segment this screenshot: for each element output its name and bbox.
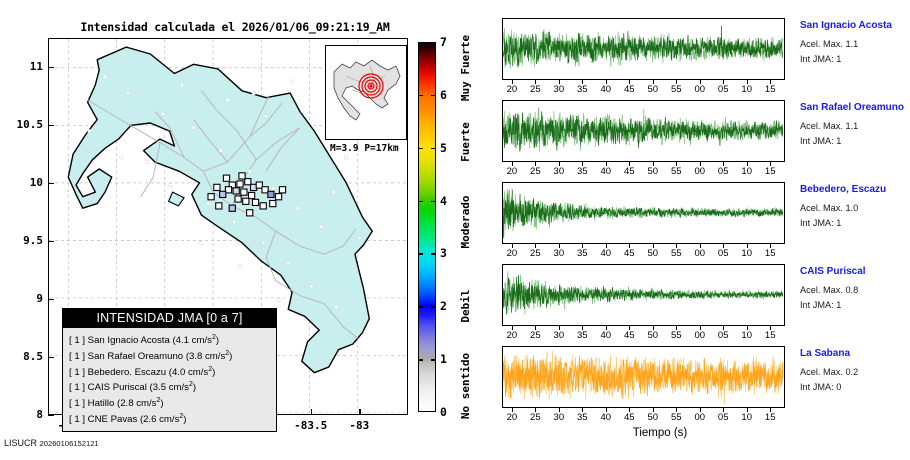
waveform-trace [503, 265, 783, 324]
waveform-x-tick-label: 50 [647, 330, 658, 341]
map-x-tick [311, 409, 312, 415]
waveform-x-tick-label: 40 [601, 248, 612, 259]
waveform-x-tick-label: 30 [554, 166, 565, 177]
waveform-x-tick-label: 05 [718, 166, 729, 177]
legend-entry-paren: ) [216, 335, 219, 346]
colorbar-tick [418, 148, 423, 149]
legend-entry: [ 1 ] CNE Pavas (2.6 cm/s2) [69, 411, 276, 427]
waveform-x-tick-label: 55 [671, 84, 682, 95]
waveform-panel[interactable] [502, 18, 785, 80]
waveform-x-tick-label: 50 [647, 248, 658, 259]
map-y-tick [48, 241, 54, 242]
colorbar-category-label: Moderado [459, 195, 472, 248]
page-title: Intensidad calculada el 2026/01/06_09:21… [60, 20, 410, 34]
waveform-x-tick-label: 00 [694, 84, 705, 95]
colorbar-tick [431, 359, 436, 360]
station-marker [276, 194, 282, 200]
waveform-x-tick-label: 20 [507, 248, 518, 259]
colorbar-tick [431, 95, 436, 96]
magnitude-depth-label: M=3.9 P=17km [330, 143, 399, 154]
colorbar-tick-label: 7 [440, 35, 447, 49]
waveform-x-tick-label: 30 [554, 330, 565, 341]
waveform-panel[interactable] [502, 346, 785, 408]
waveform-x-tick-label: 30 [554, 248, 565, 259]
waveform-x-tick-label: 55 [671, 412, 682, 423]
colorbar-tick [431, 201, 436, 202]
station-marker [247, 210, 253, 216]
legend-entry-accel: (3.5 cm/s [150, 383, 189, 394]
station-marker [220, 191, 226, 197]
station-name-label[interactable]: San Rafael Oreamuno [800, 102, 904, 113]
waveform-x-tick-label: 40 [601, 330, 612, 341]
colorbar-category-label: Debil [459, 290, 472, 323]
station-name-label[interactable]: Bebedero, Escazu [800, 184, 886, 195]
station-jma-label: Int JMA: 1 [800, 54, 841, 64]
waveform-trace [503, 347, 783, 406]
waveform-x-tick-label: 30 [554, 412, 565, 423]
waveform-x-tick-label: 15 [765, 166, 776, 177]
station-accel-label: Acel. Max. 0.2 [800, 367, 858, 377]
station-jma-label: Int JMA: 1 [800, 136, 841, 146]
waveform-panel[interactable] [502, 264, 785, 326]
map-x-tick-label: -83.5 [283, 419, 339, 432]
waveform-x-tick-label: 45 [624, 84, 635, 95]
waveform-x-tick-label: 00 [694, 248, 705, 259]
waveform-x-tick-label: 05 [718, 330, 729, 341]
waveform-x-tick-label: 20 [507, 330, 518, 341]
map-y-tick-label: 11 [3, 60, 43, 73]
legend-entry-level: [ 1 ] [69, 383, 85, 394]
legend-entry-station: CNE Pavas [88, 414, 138, 425]
legend-entry: [ 1 ] San Rafael Oreamuno (3.8 cm/s2) [69, 348, 276, 364]
colorbar-tick-label: 6 [440, 88, 447, 102]
waveform-x-tick-label: 45 [624, 166, 635, 177]
waveform-x-tick-label: 35 [577, 412, 588, 423]
waveform-panel[interactable] [502, 100, 785, 162]
waveform-x-tick-label: 25 [530, 248, 541, 259]
colorbar-tick [431, 148, 436, 149]
colorbar-category-label: No sentido [459, 352, 472, 418]
legend-entry-station: San Rafael Oreamuno [88, 351, 183, 362]
map-y-tick-label: 9 [3, 292, 43, 305]
legend-entry-accel: (2.6 cm/s [140, 414, 179, 425]
legend-entry-paren: ) [183, 414, 186, 425]
map-y-tick [48, 183, 54, 184]
epicenter-dot [369, 84, 372, 87]
station-accel-label: Acel. Max. 1.1 [800, 121, 858, 131]
intensity-colorbar [418, 42, 436, 412]
waveform-x-tick-label: 25 [530, 412, 541, 423]
map-y-tick [48, 299, 54, 300]
colorbar-tick-label: 3 [440, 246, 447, 260]
colorbar-tick [418, 95, 423, 96]
legend-entry-station: Hatillo [88, 398, 115, 409]
map-y-tick [48, 67, 54, 68]
waveform-x-tick-label: 10 [741, 412, 752, 423]
waveform-x-tick-label: 55 [671, 166, 682, 177]
colorbar-tick-label: 4 [440, 194, 447, 208]
colorbar-tick-label: 5 [440, 141, 447, 155]
map-y-tick [48, 125, 54, 126]
colorbar-tick-label: 0 [440, 405, 447, 419]
waveform-x-tick-label: 35 [577, 248, 588, 259]
station-marker [239, 173, 245, 179]
footer-credit: LISUCR 20260106152121 [4, 438, 99, 448]
legend-entry-accel: (2.8 cm/s [117, 398, 156, 409]
colorbar-tick [418, 306, 423, 307]
station-marker [243, 198, 249, 204]
jma-intensity-legend: INTENSIDAD JMA [0 a 7] [ 1 ] San Ignacio… [62, 308, 277, 432]
station-marker [235, 196, 241, 202]
legend-entry-list: [ 1 ] San Ignacio Acosta (4.1 cm/s2)[ 1 … [63, 328, 276, 431]
legend-entry-level: [ 1 ] [69, 351, 85, 362]
waveform-x-tick-label: 25 [530, 166, 541, 177]
waveform-x-tick-label: 40 [601, 166, 612, 177]
waveform-x-tick-label: 50 [647, 412, 658, 423]
waveform-x-tick-label: 20 [507, 84, 518, 95]
waveform-x-tick-label: 45 [624, 412, 635, 423]
legend-entry-level: [ 1 ] [69, 335, 85, 346]
footer-timestamp: 20260106152121 [40, 439, 99, 448]
map-y-tick [48, 357, 54, 358]
map-y-tick-label: 8 [3, 408, 43, 421]
waveform-x-tick-label: 40 [601, 84, 612, 95]
legend-entry-level: [ 1 ] [69, 414, 85, 425]
epicenter-inset-map[interactable] [325, 45, 407, 140]
legend-entry-station: CAIS Puriscal [88, 383, 147, 394]
waveform-x-tick-label: 10 [741, 248, 752, 259]
station-marker [214, 184, 220, 190]
waveform-x-tick-label: 55 [671, 330, 682, 341]
waveform-x-tick-label: 40 [601, 412, 612, 423]
waveform-x-tick-label: 15 [765, 84, 776, 95]
station-marker [270, 201, 276, 207]
map-x-tick-label: -83 [331, 419, 387, 432]
waveform-x-tick-label: 00 [694, 330, 705, 341]
colorbar-tick [431, 253, 436, 254]
station-jma-label: Int JMA: 1 [800, 300, 841, 310]
station-marker [216, 203, 222, 209]
waveform-x-tick-label: 30 [554, 84, 565, 95]
legend-entry-paren: ) [160, 398, 163, 409]
waveform-x-tick-label: 20 [507, 166, 518, 177]
legend-entry: [ 1 ] San Ignacio Acosta (4.1 cm/s2) [69, 332, 276, 348]
waveform-x-tick-label: 05 [718, 84, 729, 95]
station-marker [241, 189, 247, 195]
legend-entry: [ 1 ] Bebedero. Escazu (4.0 cm/s2) [69, 364, 276, 380]
colorbar-tick-label: 1 [440, 352, 447, 366]
colorbar-tick [431, 306, 436, 307]
station-accel-label: Acel. Max. 1.0 [800, 203, 858, 213]
waveform-x-tick-label: 15 [765, 412, 776, 423]
station-marker [252, 199, 258, 205]
colorbar-category-label: Fuerte [459, 123, 472, 163]
inset-canvas [326, 46, 406, 139]
station-marker [229, 205, 235, 211]
station-name-label[interactable]: CAIS Puriscal [800, 266, 866, 277]
waveform-x-tick-label: 50 [647, 166, 658, 177]
station-marker [233, 188, 239, 194]
station-marker [260, 203, 266, 209]
waveform-x-tick-label: 50 [647, 84, 658, 95]
waveform-x-tick-label: 45 [624, 248, 635, 259]
map-y-tick-label: 10.5 [3, 118, 43, 131]
legend-entry-paren: ) [229, 351, 232, 362]
waveform-x-tick-label: 35 [577, 166, 588, 177]
waveform-x-tick-label: 35 [577, 84, 588, 95]
waveform-trace [503, 19, 783, 78]
waveform-x-tick-label: 45 [624, 330, 635, 341]
map-y-tick-label: 8.5 [3, 350, 43, 363]
station-accel-label: Acel. Max. 0.8 [800, 285, 858, 295]
station-accel-label: Acel. Max. 1.1 [800, 39, 858, 49]
station-jma-label: Int JMA: 1 [800, 218, 841, 228]
waveform-trace [503, 183, 783, 242]
waveform-x-tick-label: 20 [507, 412, 518, 423]
station-name-label[interactable]: San Ignacio Acosta [800, 20, 892, 31]
waveform-x-tick-label: 15 [765, 248, 776, 259]
waveform-x-tick-label: 25 [530, 84, 541, 95]
waveform-x-tick-label: 10 [741, 330, 752, 341]
colorbar-tick [418, 359, 423, 360]
legend-title: INTENSIDAD JMA [0 a 7] [63, 309, 276, 328]
station-marker [268, 191, 274, 197]
map-y-tick-label: 10 [3, 176, 43, 189]
station-name-label[interactable]: La Sabana [800, 348, 850, 359]
map-y-tick [48, 415, 54, 416]
waveform-panel[interactable] [502, 182, 785, 244]
legend-entry-accel: (3.8 cm/s [186, 351, 225, 362]
waveform-x-tick-label: 05 [718, 412, 729, 423]
waveform-x-tick-label: 00 [694, 166, 705, 177]
waveform-xaxis-label: Tiempo (s) [600, 427, 720, 439]
legend-entry-paren: ) [193, 383, 196, 394]
waveform-x-tick-label: 25 [530, 330, 541, 341]
colorbar-tick [418, 201, 423, 202]
waveform-x-tick-label: 10 [741, 166, 752, 177]
legend-entry-paren: ) [212, 367, 215, 378]
station-marker [237, 181, 243, 187]
waveform-x-tick-label: 35 [577, 330, 588, 341]
footer-agency: LISUCR [4, 438, 37, 448]
legend-entry: [ 1 ] Hatillo (2.8 cm/s2) [69, 395, 276, 411]
legend-entry: [ 1 ] CAIS Puriscal (3.5 cm/s2) [69, 379, 276, 395]
map-x-tick [359, 409, 360, 415]
waveform-trace [503, 101, 783, 160]
waveform-x-tick-label: 05 [718, 248, 729, 259]
legend-entry-station: San Ignacio Acosta [88, 335, 170, 346]
station-marker [208, 194, 214, 200]
colorbar-tick-label: 2 [440, 299, 447, 313]
legend-entry-accel: (4.1 cm/s [172, 335, 211, 346]
station-marker [223, 175, 229, 181]
waveform-x-tick-label: 15 [765, 330, 776, 341]
waveform-x-tick-label: 00 [694, 412, 705, 423]
waveform-x-tick-label: 55 [671, 248, 682, 259]
legend-entry-level: [ 1 ] [69, 367, 85, 378]
colorbar-tick [418, 253, 423, 254]
map-y-tick-label: 9.5 [3, 234, 43, 247]
legend-entry-station: Bebedero. Escazu [88, 367, 166, 378]
legend-entry-accel: (4.0 cm/s [169, 367, 208, 378]
waveform-x-tick-label: 10 [741, 84, 752, 95]
colorbar-category-label: Muy Fuerte [459, 35, 472, 101]
legend-entry-level: [ 1 ] [69, 398, 85, 409]
station-marker [279, 187, 285, 193]
station-jma-label: Int JMA: 0 [800, 382, 841, 392]
